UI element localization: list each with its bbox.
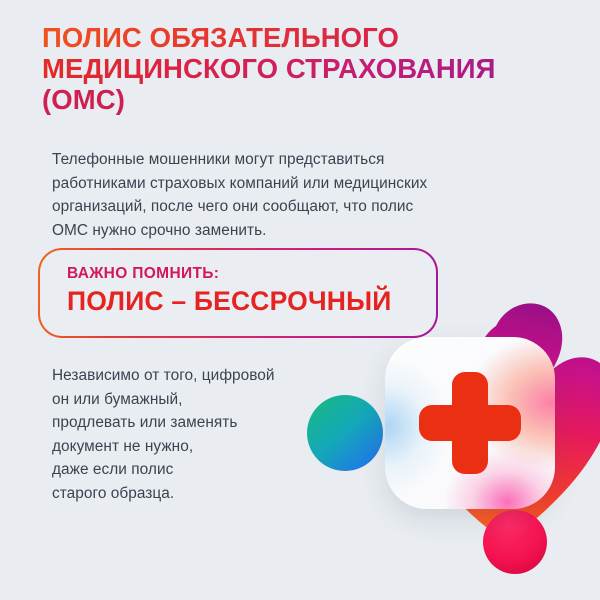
- pink-sphere: [483, 510, 547, 574]
- outro-paragraph: Независимо от того, цифровой он или бума…: [52, 364, 352, 505]
- highlight-statement: ПОЛИС – БЕССРОЧНЫЙ: [67, 286, 392, 316]
- outro-line-6: старого образца.: [52, 482, 352, 506]
- intro-line-3: организаций, после чего они сообщают, чт…: [52, 195, 562, 219]
- intro-paragraph: Телефонные мошенники могут представиться…: [52, 148, 562, 242]
- outro-line-4: документ не нужно,: [52, 435, 352, 459]
- page-title: ПОЛИС ОБЯЗАТЕЛЬНОГО МЕДИЦИНСКОГО СТРАХОВ…: [42, 22, 562, 115]
- highlight-content: ВАЖНО ПОМНИТЬ: ПОЛИС – БЕССРОЧНЫЙ: [67, 264, 392, 316]
- infographic-poster: ПОЛИС ОБЯЗАТЕЛЬНОГО МЕДИЦИНСКОГО СТРАХОВ…: [0, 0, 600, 600]
- red-cross-icon: [419, 372, 521, 474]
- medical-card: [385, 337, 555, 509]
- intro-line-2: работниками страховых компаний или медиц…: [52, 172, 562, 196]
- title-line-3: (ОМС): [42, 84, 562, 115]
- title-line-2: МЕДИЦИНСКОГО СТРАХОВАНИЯ: [42, 53, 562, 84]
- highlight-callout-box: ВАЖНО ПОМНИТЬ: ПОЛИС – БЕССРОЧНЫЙ: [38, 248, 438, 338]
- outro-line-1: Независимо от того, цифровой: [52, 364, 352, 388]
- outro-line-2: он или бумажный,: [52, 388, 352, 412]
- intro-line-1: Телефонные мошенники могут представиться: [52, 148, 562, 172]
- highlight-kicker: ВАЖНО ПОМНИТЬ:: [67, 264, 392, 283]
- outro-line-5: даже если полис: [52, 458, 352, 482]
- intro-line-4: ОМС нужно срочно заменить.: [52, 219, 562, 243]
- title-line-1: ПОЛИС ОБЯЗАТЕЛЬНОГО: [42, 22, 562, 53]
- outro-line-3: продлевать или заменять: [52, 411, 352, 435]
- cross-vertical-bar: [452, 372, 488, 474]
- medical-card-surface: [385, 337, 555, 509]
